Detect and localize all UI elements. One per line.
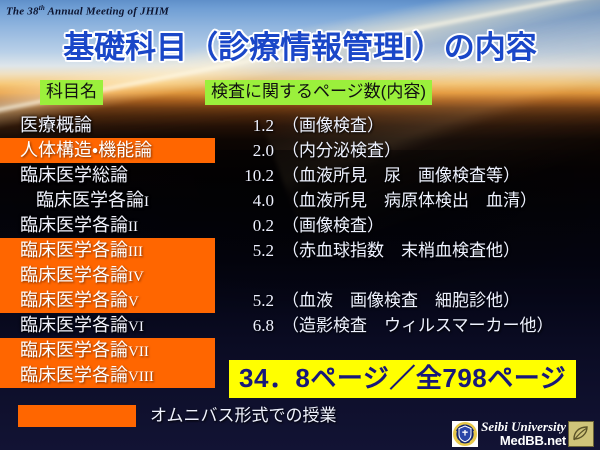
- subject-name: 医療概論: [20, 113, 92, 138]
- subject-name-text: 臨床医学各論: [20, 265, 128, 285]
- exam-content-description: （血液所見 尿 画像検査等）: [282, 163, 520, 188]
- subject-name-text: 臨床医学各論: [20, 315, 128, 335]
- subject-name-text: 臨床医学各論: [20, 340, 128, 360]
- page-count: 4.0: [218, 188, 274, 213]
- summary-badge: 34．8ページ／全798ページ: [229, 360, 576, 398]
- table-row: 医療概論1.2（画像検査）: [0, 113, 600, 138]
- table-row: 臨床医学各論V5.2（血液 画像検査 細胞診他）: [0, 288, 600, 313]
- university-name: Seibi University: [480, 419, 566, 434]
- subject-roman-numeral: VIII: [128, 369, 154, 385]
- table-row: 人体構造・機能論2.0（内分泌検査）: [0, 138, 600, 163]
- subject-roman-numeral: VII: [128, 344, 149, 360]
- footer-logo[interactable]: Seibi University MedBB.net: [452, 420, 596, 448]
- subject-name: 臨床医学各論VI: [20, 313, 144, 338]
- exam-content-description: （画像検査）: [282, 213, 384, 238]
- logo-text-block: Seibi University MedBB.net: [480, 419, 566, 449]
- subject-name: 臨床医学各論II: [20, 213, 138, 238]
- page-count: [218, 263, 274, 288]
- exam-content-description: （赤血球指数 末梢血検査他）: [282, 238, 520, 263]
- page-count: 10.2: [218, 163, 274, 188]
- medbb-leaf-icon[interactable]: [568, 421, 594, 447]
- subject-name: 臨床医学総論: [20, 163, 128, 188]
- exam-content-description: （画像検査）: [282, 113, 384, 138]
- subject-roman-numeral: V: [128, 294, 139, 310]
- subject-name-text: 臨床医学各論: [20, 365, 128, 385]
- page-count: 0.2: [218, 213, 274, 238]
- page-count: 5.2: [218, 238, 274, 263]
- conference-name-prefix: The: [6, 6, 27, 18]
- table-row: 臨床医学総論10.2（血液所見 尿 画像検査等）: [0, 163, 600, 188]
- slide: The 38th Annual Meeting of JHIM 基礎科目（診療情…: [0, 0, 600, 450]
- university-crest-icon: [452, 421, 478, 447]
- subject-name-text: 臨床医学各論: [20, 290, 128, 310]
- exam-content-description: （造影検査 ウィルスマーカー他）: [282, 313, 554, 338]
- subject-roman-numeral: II: [128, 219, 138, 235]
- exam-content-description: （血液 画像検査 細胞診他）: [282, 288, 520, 313]
- site-name: MedBB.net: [480, 434, 566, 448]
- subject-name-text: 臨床医学各論: [20, 215, 128, 235]
- table-row: 臨床医学各論I4.0（血液所見 病原体検出 血清）: [0, 188, 600, 213]
- subject-name-text: 臨床医学各論: [20, 240, 128, 260]
- page-count: 2.0: [218, 138, 274, 163]
- subject-name: 臨床医学各論I: [36, 188, 149, 213]
- legend-label: オムニバス形式での授業: [150, 404, 337, 428]
- exam-content-description: （内分泌検査）: [282, 138, 401, 163]
- subject-roman-numeral: III: [128, 244, 143, 260]
- conference-name: The 38th Annual Meeting of JHIM: [6, 4, 169, 18]
- table-row: 臨床医学各論VI6.8（造影検査 ウィルスマーカー他）: [0, 313, 600, 338]
- subject-name: 臨床医学各論VII: [20, 338, 149, 363]
- subject-name: 臨床医学各論III: [20, 238, 143, 263]
- exam-content-description: （血液所見 病原体検出 血清）: [282, 188, 537, 213]
- subject-name: 臨床医学各論IV: [20, 263, 144, 288]
- subject-name: 臨床医学各論V: [20, 288, 139, 313]
- column-header-subject: 科目名: [40, 80, 103, 105]
- table-row: 臨床医学各論II0.2（画像検査）: [0, 213, 600, 238]
- column-header-pages: 検査に関するページ数(内容): [205, 80, 432, 105]
- subject-name: 人体構造・機能論: [20, 138, 152, 163]
- page-count: 1.2: [218, 113, 274, 138]
- conference-name-suffix: Annual Meeting of JHIM: [45, 6, 169, 18]
- table-row: 臨床医学各論IV: [0, 263, 600, 288]
- conference-number: 38: [27, 6, 38, 18]
- page-count: 5.2: [218, 288, 274, 313]
- slide-title: 基礎科目（診療情報管理I）の内容: [0, 28, 600, 68]
- table-row: 臨床医学各論III5.2（赤血球指数 末梢血検査他）: [0, 238, 600, 263]
- subject-name: 臨床医学各論VIII: [20, 363, 154, 388]
- legend-color-swatch: [18, 405, 136, 427]
- subject-roman-numeral: I: [144, 194, 149, 210]
- subject-name-text: 臨床医学各論: [36, 190, 144, 210]
- subject-roman-numeral: IV: [128, 269, 144, 285]
- curriculum-table: 医療概論1.2（画像検査）人体構造・機能論2.0（内分泌検査）臨床医学総論10.…: [0, 113, 600, 388]
- page-count: 6.8: [218, 313, 274, 338]
- subject-roman-numeral: VI: [128, 319, 144, 335]
